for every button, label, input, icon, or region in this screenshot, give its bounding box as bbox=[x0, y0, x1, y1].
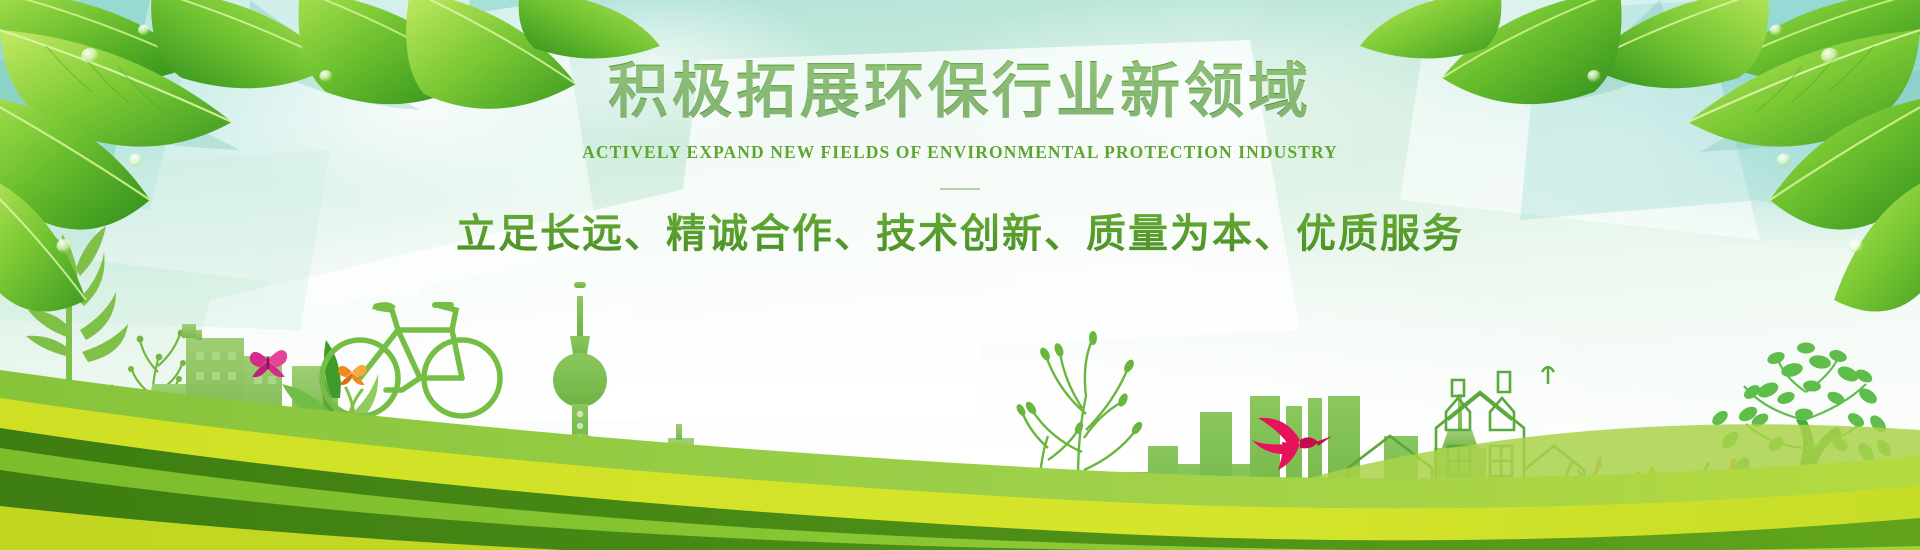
sapling-icon bbox=[26, 226, 128, 420]
house-base-band bbox=[1430, 506, 1596, 530]
house-base-windows bbox=[1442, 514, 1576, 523]
eco-banner: 积极拓展环保行业新领域 ACTIVELY EXPAND NEW FIELDS O… bbox=[0, 0, 1920, 550]
wave-band-bright bbox=[0, 448, 1920, 550]
wave-band-dark bbox=[0, 428, 1920, 550]
sprout-icon bbox=[282, 340, 378, 430]
ladybug-icon bbox=[999, 494, 1013, 514]
city-skyline-icon bbox=[152, 324, 338, 430]
page-title: 积极拓展环保行业新领域 bbox=[0, 0, 1920, 122]
skyline-windows bbox=[196, 352, 276, 384]
flower-pink-icon bbox=[870, 494, 899, 530]
grass-icon bbox=[107, 382, 362, 432]
weed-buds-icon bbox=[128, 330, 186, 382]
victorian-house-icon bbox=[1348, 366, 1584, 530]
branching-plant-icon bbox=[1022, 340, 1136, 530]
weed-stems-icon bbox=[132, 334, 182, 432]
city-skyline-icon bbox=[500, 424, 794, 530]
headline-block: 积极拓展环保行业新领域 ACTIVELY EXPAND NEW FIELDS O… bbox=[0, 0, 1920, 254]
bicycle-icon bbox=[322, 306, 500, 416]
butterfly-icon bbox=[250, 350, 287, 377]
grass-icon bbox=[820, 476, 976, 530]
hedge-icon bbox=[1596, 508, 1642, 530]
city-skyline-icon bbox=[1122, 396, 1418, 530]
oriental-pearl-tower-icon bbox=[542, 282, 618, 500]
flower-pink-icon bbox=[1600, 496, 1633, 527]
flower-orange-icon bbox=[219, 400, 244, 425]
tower-window-dots bbox=[577, 411, 583, 441]
butterfly-icon bbox=[338, 365, 367, 385]
cattail-icon bbox=[1594, 456, 1737, 475]
branching-plant-buds-icon bbox=[1015, 331, 1145, 436]
tagline: 立足长远、精诚合作、技术创新、质量为本、优质服务 bbox=[0, 190, 1920, 254]
ladybug-icon bbox=[541, 452, 608, 487]
subtitle-english: ACTIVELY EXPAND NEW FIELDS OF ENVIRONMEN… bbox=[0, 122, 1920, 162]
sunflower-icon bbox=[1621, 467, 1683, 534]
bicycle-seat-icon bbox=[372, 302, 454, 310]
hill-right bbox=[1160, 424, 1920, 550]
tree-icon bbox=[1710, 343, 1894, 531]
wave-band-bottom bbox=[0, 506, 1920, 550]
grass-icon bbox=[1563, 462, 1734, 530]
wave-band-lime bbox=[0, 398, 1920, 542]
tower-building-icon bbox=[1434, 394, 1486, 530]
hummingbird-icon bbox=[1252, 418, 1332, 470]
divider bbox=[940, 188, 980, 190]
wave-band-green bbox=[0, 370, 1920, 550]
sprout-icon bbox=[822, 478, 866, 506]
